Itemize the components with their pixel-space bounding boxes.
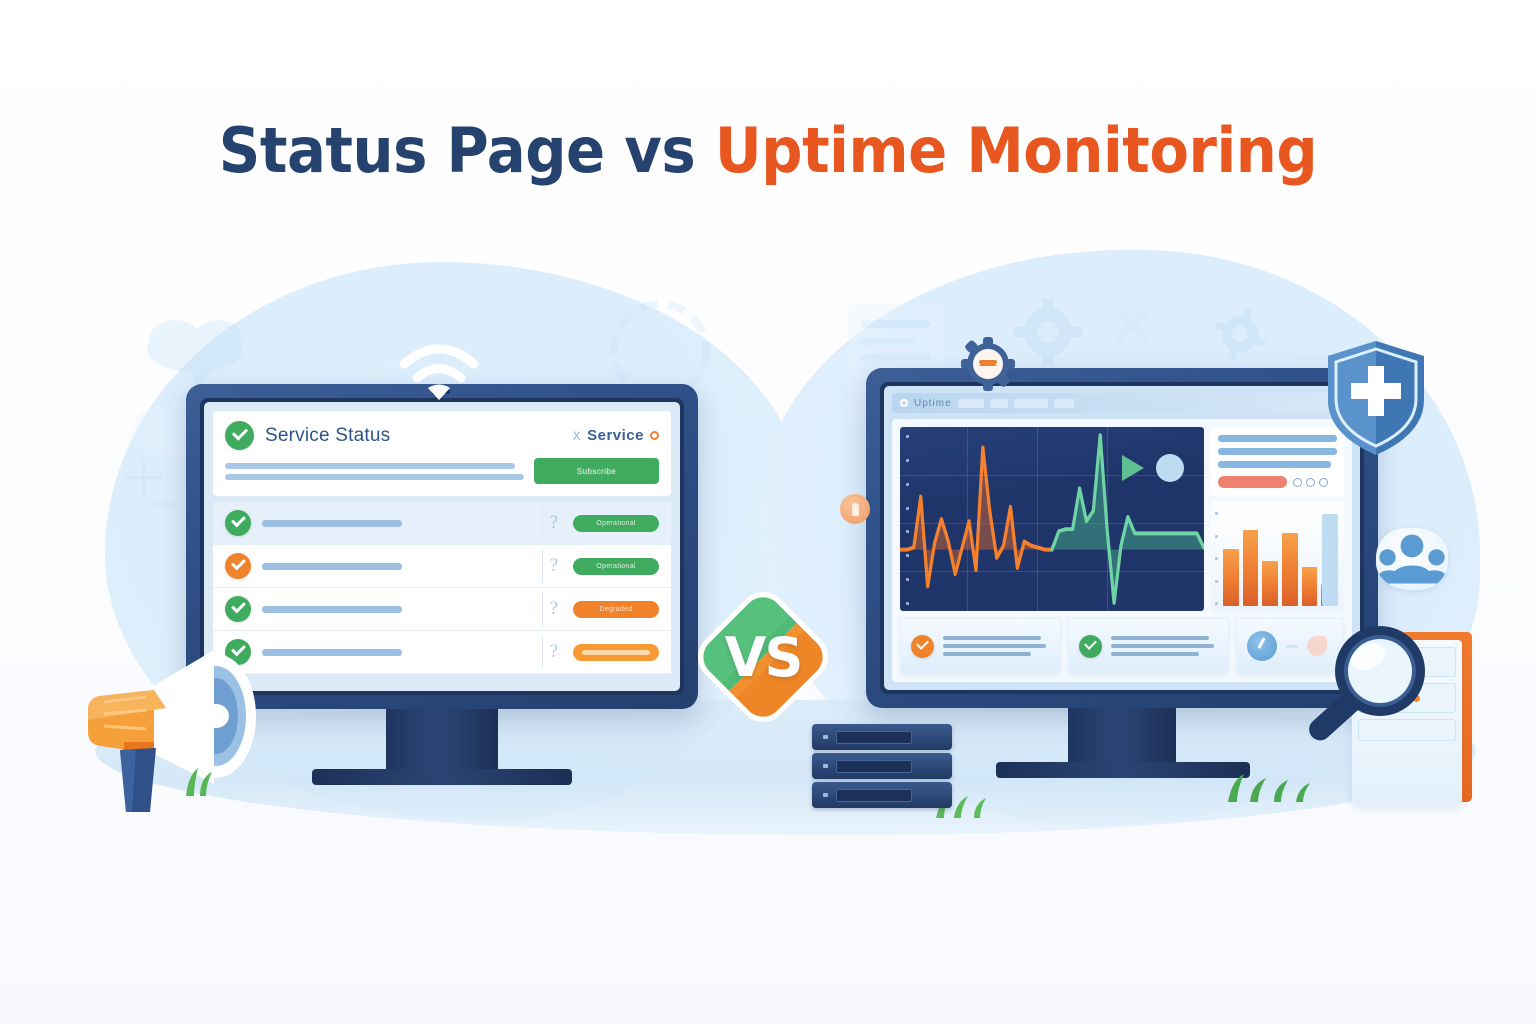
gauge-icon (1247, 631, 1277, 661)
magnifier-icon (1296, 613, 1438, 763)
dashboard-body (892, 419, 1352, 682)
topbar-label: Uptime (914, 398, 952, 409)
service-name-placeholder (262, 520, 402, 527)
check-circle-icon (225, 596, 251, 622)
gear-icon (960, 336, 1016, 392)
card-text-lines (1111, 636, 1218, 656)
status-badge: Operational (573, 558, 659, 575)
check-circle-icon (225, 553, 251, 579)
query-glyph: ? (550, 555, 558, 577)
topbar-segment (1014, 399, 1048, 408)
query-glyph: ? (550, 512, 558, 534)
service-name-placeholder (262, 606, 402, 613)
vs-label: VS (684, 578, 842, 736)
monitor-base-left (312, 769, 572, 785)
text-line (1218, 461, 1331, 468)
ring-icons (1293, 478, 1328, 487)
card-text-lines (943, 636, 1050, 656)
bar-2 (1243, 530, 1259, 606)
brand-logo: X Service (573, 427, 659, 444)
check-circle-icon (1079, 635, 1102, 658)
people-icon (1376, 528, 1448, 590)
header-text-placeholder (225, 463, 524, 480)
text-line (1218, 435, 1337, 442)
check-circle-icon (225, 510, 251, 536)
server-unit (812, 782, 952, 808)
status-badge: Operational (573, 515, 659, 532)
uptime-line-chart (900, 427, 1204, 611)
title-part-blue: Status Page vs (219, 114, 715, 187)
service-name-placeholder (262, 563, 402, 570)
subscribe-button[interactable]: Subscribe (534, 458, 659, 484)
row-divider (542, 635, 543, 669)
check-circle-icon (911, 635, 934, 658)
circle-outline-icon (650, 431, 659, 440)
brand-label: Service (587, 427, 644, 444)
status-badge: Degraded (573, 601, 659, 618)
vs-badge: VS (684, 578, 842, 736)
grass-icon (176, 756, 246, 796)
status-dot-icon (1156, 454, 1184, 482)
status-badge (573, 644, 659, 661)
server-stack-icon (812, 724, 952, 811)
dashboard-topbar: Uptime (892, 393, 1352, 413)
circle-icon (900, 399, 908, 407)
placeholder-bar (225, 463, 515, 469)
bar-4 (1282, 533, 1298, 606)
status-card[interactable] (1068, 618, 1229, 674)
status-row[interactable]: ? Operational (213, 502, 671, 545)
page-title: Service Status (265, 425, 390, 447)
alert-bar (1218, 476, 1287, 488)
monitor-base-right (996, 762, 1250, 778)
wifi-icon (396, 338, 482, 402)
text-line (1218, 448, 1337, 455)
title-part-orange: Uptime Monitoring (715, 114, 1317, 187)
row-divider (542, 592, 543, 626)
check-circle-icon (225, 421, 254, 450)
monitoring-dashboard-screen: Uptime (884, 386, 1360, 690)
status-row[interactable]: ? Operational (213, 545, 671, 588)
topbar-segment (958, 399, 984, 408)
shield-cross-icon (1324, 338, 1428, 458)
status-row[interactable]: ? Degraded (213, 588, 671, 631)
monitor-neck-right (1068, 708, 1176, 764)
dashboard-cards (900, 618, 1344, 674)
bar-1 (1223, 549, 1239, 606)
page-title-block: Status Page vs Uptime Monitoring (0, 118, 1536, 183)
topbar-segment (990, 399, 1008, 408)
placeholder-bar (225, 474, 524, 480)
highlight-bar (1322, 514, 1338, 606)
server-unit (812, 753, 952, 779)
monitor-neck-left (386, 709, 498, 771)
query-glyph: ? (550, 641, 558, 663)
monitor-inner-right: Uptime (880, 382, 1364, 694)
bar-5 (1302, 567, 1318, 606)
lock-icon (840, 494, 870, 524)
query-glyph: ? (550, 598, 558, 620)
row-divider (542, 549, 543, 583)
side-bar-chart (1211, 502, 1344, 611)
bar-3 (1262, 561, 1278, 606)
illustration-canvas: Service Status X Service (0, 0, 1536, 1024)
status-page-header: Service Status X Service (213, 411, 671, 496)
chart-series-layer (900, 427, 1204, 611)
grass-icon (1222, 760, 1332, 802)
play-triangle-icon (1122, 455, 1144, 481)
row-divider (542, 506, 543, 540)
status-card[interactable] (900, 618, 1061, 674)
brand-x-glyph: X (573, 429, 582, 443)
topbar-segment (1054, 399, 1074, 408)
